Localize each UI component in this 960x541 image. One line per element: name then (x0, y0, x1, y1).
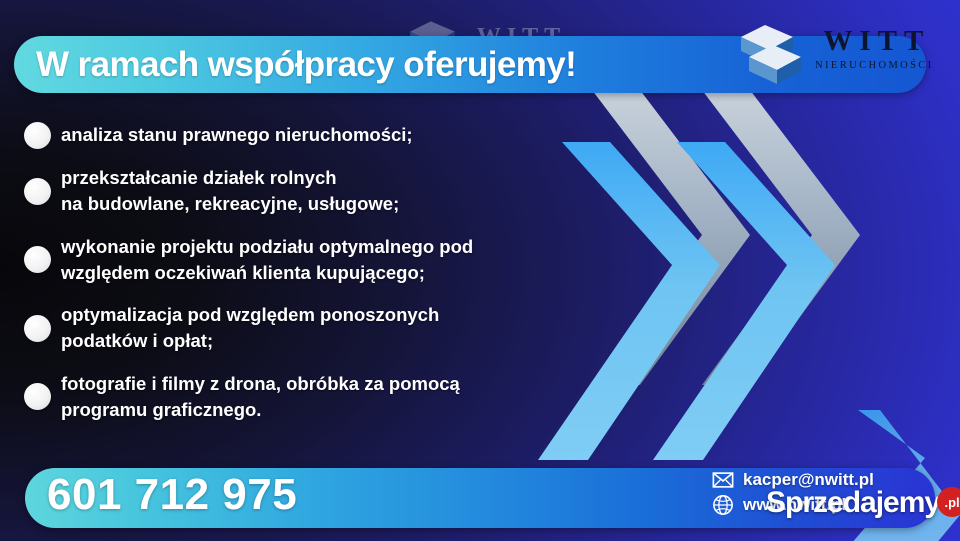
bullet-dot-icon (24, 315, 51, 342)
list-item-label: przekształcanie działek rolnych na budow… (61, 165, 399, 218)
chevron-3 (702, 90, 860, 385)
list-item-line: fotografie i filmy z drona, obróbka za p… (61, 373, 460, 394)
list-item-line: podatków i opłat; (61, 330, 213, 351)
phone-number[interactable]: 601 712 975 (47, 470, 297, 520)
list-item-line: przekształcanie działek rolnych (61, 167, 337, 188)
watermark-word: Sprzedajemy (766, 486, 940, 520)
services-list: analiza stanu prawnego nieruchomości; pr… (24, 122, 604, 439)
list-item-label: wykonanie projektu podziału optymalnego … (61, 234, 473, 287)
bullet-dot-icon (24, 122, 51, 149)
list-item-line: optymalizacja pod względem ponoszonych (61, 304, 439, 325)
bullet-dot-icon (24, 246, 51, 273)
logo-subtitle: NIERUCHOMOŚCI (813, 61, 934, 72)
list-item-label: optymalizacja pod względem ponoszonych p… (61, 302, 439, 355)
list-item-line: wykonanie projektu podziału optymalnego … (61, 236, 473, 257)
list-item-label: analiza stanu prawnego nieruchomości; (61, 122, 413, 148)
list-item: optymalizacja pod względem ponoszonych p… (24, 302, 604, 355)
sprzedajemy-watermark: Sprzedajemy .pl (766, 486, 960, 520)
bullet-dot-icon (24, 383, 51, 410)
isometric-blocks-logo-icon (735, 9, 807, 89)
list-item: analiza stanu prawnego nieruchomości; (24, 122, 604, 149)
company-logo: WITT NIERUCHOMOŚCI (735, 6, 950, 92)
list-item-label: fotografie i filmy z drona, obróbka za p… (61, 371, 460, 424)
chevron-1 (592, 90, 750, 385)
list-item: wykonanie projektu podziału optymalnego … (24, 234, 604, 287)
bullet-dot-icon (24, 178, 51, 205)
list-item-line: na budowlane, rekreacyjne, usługowe; (61, 193, 399, 214)
page-title: W ramach współpracy oferujemy! (36, 45, 576, 85)
chevron-4 (653, 142, 835, 460)
list-item: fotografie i filmy z drona, obróbka za p… (24, 371, 604, 424)
list-item-line: względem oczekiwań klienta kupującego; (61, 262, 425, 283)
list-item-line: programu graficznego. (61, 399, 261, 420)
list-item: przekształcanie działek rolnych na budow… (24, 165, 604, 218)
watermark-badge: .pl (937, 487, 960, 517)
list-item-line: analiza stanu prawnego nieruchomości; (61, 124, 413, 145)
envelope-icon (712, 469, 734, 491)
globe-icon (712, 494, 734, 516)
logo-name: WITT (816, 27, 930, 56)
promotional-poster: WITT NIERUCHOMOŚCI W ramach współpracy o… (0, 0, 960, 541)
